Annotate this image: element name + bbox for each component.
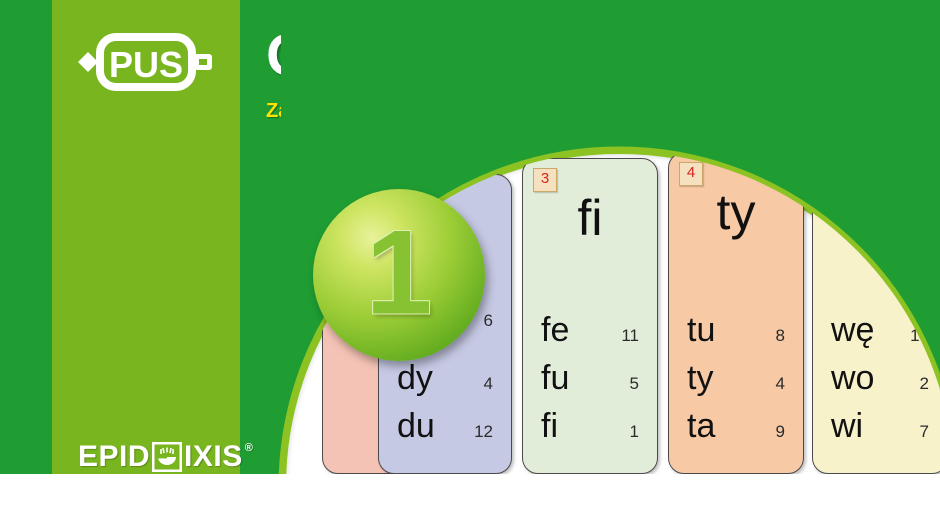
card-4[interactable]: 4 ty tu 8 ty 4 ta 9: [668, 152, 804, 474]
card-row: wi 7: [813, 407, 940, 455]
card-3[interactable]: 3 fi fe 11 fu 5 fi 1: [522, 158, 658, 474]
card-syllable: fu: [541, 359, 569, 398]
registered-trademark-icon: ®: [245, 442, 254, 454]
card-5[interactable]: 5 wi wę 10 wo 2 wi 7: [812, 150, 940, 474]
card-badge-5: 5: [823, 160, 847, 184]
card-3-rows: fe 11 fu 5 fi 1: [523, 311, 657, 455]
card-syllable: fi: [541, 407, 558, 446]
card-row: ty 4: [669, 359, 803, 407]
card-syllable: fe: [541, 311, 569, 350]
card-heading: wi: [813, 185, 940, 235]
card-row: fu 5: [523, 359, 657, 407]
card-row: wo 2: [813, 359, 940, 407]
card-heading: fi: [523, 193, 657, 243]
card-number: 12: [474, 422, 493, 442]
number-ball[interactable]: 1: [313, 189, 485, 361]
card-syllable: wi: [831, 407, 863, 446]
card-row: ta 9: [669, 407, 803, 455]
card-heading: ty: [669, 187, 803, 237]
card-badge-4: 4: [679, 162, 703, 186]
card-number: 11: [621, 326, 639, 346]
epideixis-sun-icon: [152, 442, 182, 472]
card-number: 10: [910, 326, 929, 346]
card-number: 1: [630, 422, 639, 442]
card-number: 7: [920, 422, 929, 442]
card-number: 4: [776, 374, 785, 394]
card-5-rows: wę 10 wo 2 wi 7: [813, 311, 940, 455]
card-row: tu 8: [669, 311, 803, 359]
card-number: 8: [776, 326, 785, 346]
card-number: 9: [776, 422, 785, 442]
publisher-name-part-1: EPID: [78, 440, 150, 474]
card-row: fi 1: [523, 407, 657, 455]
ball-number-label: 1: [313, 213, 485, 333]
card-syllable: du: [397, 407, 435, 446]
publisher-logo: EPID IXIS ®: [78, 440, 253, 474]
card-syllable: dy: [397, 359, 433, 398]
card-row: du 12: [379, 407, 511, 455]
card-number: 2: [920, 374, 929, 394]
card-4-rows: tu 8 ty 4 ta 9: [669, 311, 803, 455]
card-row: wę 10: [813, 311, 940, 359]
card-number: 5: [630, 374, 639, 394]
card-number: 4: [484, 374, 493, 394]
card-syllable: wę: [831, 311, 874, 350]
card-row: fe 11: [523, 311, 657, 359]
book-cover: PUS Od gwiazdki do bajki Zabawy i ćwicze…: [0, 0, 940, 506]
card-syllable: ta: [687, 407, 715, 446]
card-syllable: ty: [687, 359, 713, 398]
card-syllable: wo: [831, 359, 874, 398]
card-badge-3: 3: [533, 168, 557, 192]
publisher-name-part-2: IXIS: [184, 440, 243, 474]
card-row: dy 4: [379, 359, 511, 407]
card-syllable: tu: [687, 311, 715, 350]
